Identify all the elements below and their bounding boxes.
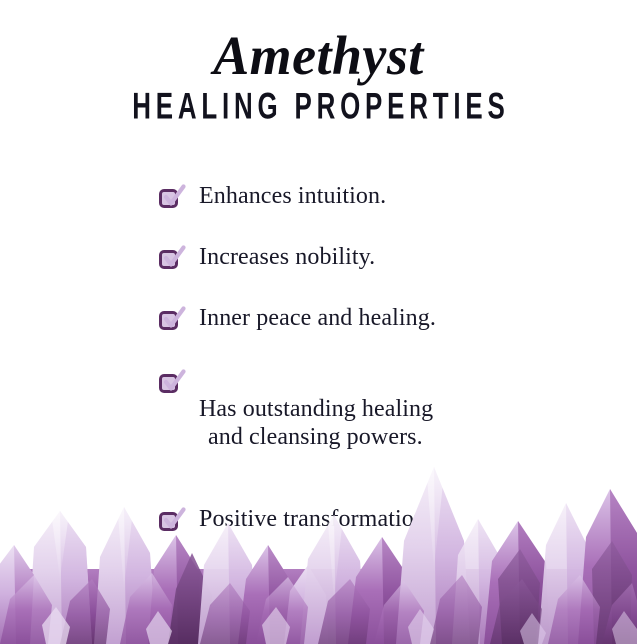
list-item-label-line1: Has outstanding healing <box>199 396 433 422</box>
list-item: Inner peace and healing. <box>0 305 637 333</box>
poster-header: Amethyst HEALING PROPERTIES <box>0 0 637 123</box>
checked-checkbox-icon <box>159 310 182 333</box>
list-item-label-line2: and cleansing powers. <box>199 424 433 452</box>
poster-canvas: Amethyst HEALING PROPERTIES Enhances int… <box>0 0 637 644</box>
list-item-label: Increases nobility. <box>199 244 375 272</box>
checked-checkbox-icon <box>159 373 182 396</box>
list-item-label: Inner peace and healing. <box>199 305 436 333</box>
page-subtitle: HEALING PROPERTIES <box>83 88 554 125</box>
list-item-label: Enhances intuition. <box>199 183 386 211</box>
page-title: Amethyst <box>6 30 630 82</box>
list-item: Increases nobility. <box>0 244 637 272</box>
checked-checkbox-icon <box>159 249 182 272</box>
list-item: Enhances intuition. <box>0 183 637 211</box>
checked-checkbox-icon <box>159 188 182 211</box>
amethyst-crystal-cluster <box>0 449 637 644</box>
